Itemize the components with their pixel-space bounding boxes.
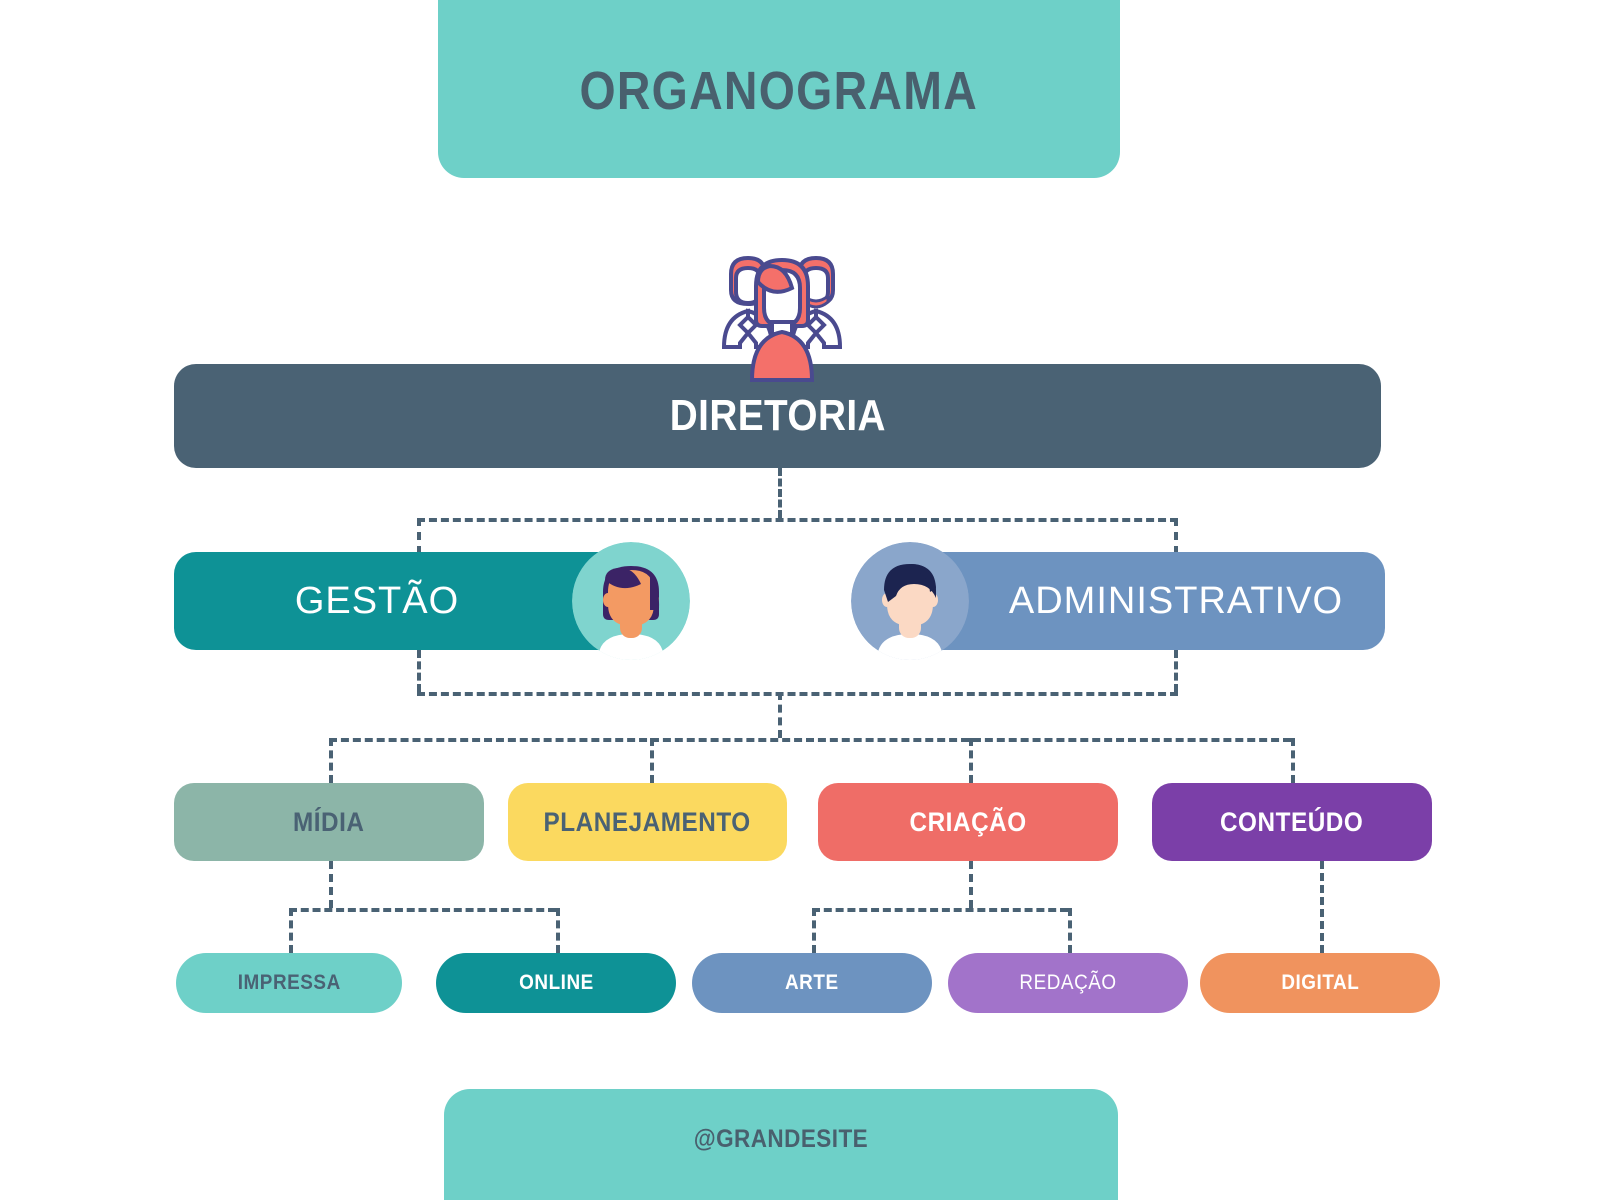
node-impressa[interactable]: IMPRESSA	[176, 953, 402, 1013]
node-planejamento-label: PLANEJAMENTO	[544, 807, 751, 838]
connector-to-gestao	[417, 518, 421, 554]
node-criacao[interactable]: CRIAÇÃO	[818, 783, 1118, 861]
social-handle: @GRANDESITE	[694, 1125, 868, 1154]
node-impressa-label: IMPRESSA	[237, 971, 340, 995]
connector-to-criacao	[969, 738, 973, 783]
node-conteudo-label: CONTEÚDO	[1220, 807, 1363, 838]
title-banner: ORGANOGRAMA	[438, 0, 1120, 178]
connector-to-arte	[812, 908, 816, 953]
node-conteudo[interactable]: CONTEÚDO	[1152, 783, 1432, 861]
node-administrativo[interactable]: ADMINISTRATIVO	[913, 552, 1385, 650]
page-title: ORGANOGRAMA	[580, 60, 979, 122]
connector-to-redacao	[1068, 908, 1072, 953]
node-midia[interactable]: MÍDIA	[174, 783, 484, 861]
node-arte-label: ARTE	[785, 971, 839, 995]
connector-criacao-stem	[969, 861, 973, 908]
node-administrativo-label: ADMINISTRATIVO	[1009, 580, 1343, 623]
connector-to-online	[556, 908, 560, 953]
avatar-man-icon	[851, 542, 969, 660]
footer-banner: @GRANDESITE	[444, 1089, 1118, 1200]
organogram-canvas: ORGANOGRAMA	[0, 0, 1600, 1200]
connector-midia-stem	[329, 861, 333, 908]
connector-tier2-bar	[417, 518, 1178, 522]
team-group-icon	[684, 252, 880, 382]
connector-gestao-down	[417, 650, 421, 692]
node-redacao[interactable]: REDAÇÃO	[948, 953, 1188, 1013]
node-diretoria-label: DIRETORIA	[669, 391, 885, 441]
node-digital[interactable]: DIGITAL	[1200, 953, 1440, 1013]
avatar-woman-icon	[572, 542, 690, 660]
connector-tier2-merge-bar	[417, 692, 1178, 696]
node-criacao-label: CRIAÇÃO	[909, 807, 1026, 838]
node-online-label: ONLINE	[519, 971, 594, 995]
connector-to-planejamento	[650, 738, 654, 783]
connector-to-conteudo	[1291, 738, 1295, 783]
connector-to-digital	[1320, 861, 1324, 953]
node-planejamento[interactable]: PLANEJAMENTO	[508, 783, 787, 861]
connector-criacao-bar	[812, 908, 1068, 912]
node-online[interactable]: ONLINE	[436, 953, 676, 1013]
connector-merge-stem	[778, 692, 782, 738]
node-redacao-label: REDAÇÃO	[1019, 971, 1116, 995]
connector-midia-bar	[289, 908, 556, 912]
node-arte[interactable]: ARTE	[692, 953, 932, 1013]
connector-to-midia	[329, 738, 333, 783]
connector-tier3-bar	[329, 738, 1291, 742]
node-midia-label: MÍDIA	[293, 807, 365, 838]
connector-to-administrativo	[1174, 518, 1178, 554]
connector-administrativo-down	[1174, 650, 1178, 692]
node-digital-label: DIGITAL	[1281, 971, 1359, 995]
connector-diretoria-stem	[778, 468, 782, 518]
connector-to-impressa	[289, 908, 293, 953]
node-gestao-label: GESTÃO	[295, 580, 459, 623]
